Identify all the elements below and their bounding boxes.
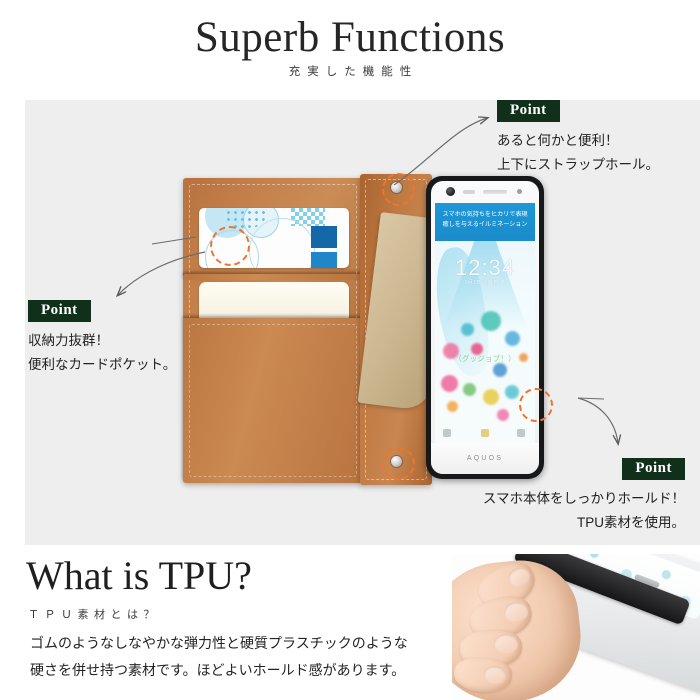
smartphone-in-case: スマホの気持ちをヒカリで表現 癒しを与えるイルミネーション 12:34 3月7日…: [426, 176, 544, 479]
point-badge: Point: [497, 100, 560, 122]
tpu-body-text: ゴムのようなしなやかな弾力性と硬質プラスチックのような 硬さを併せ持つ素材です。…: [30, 630, 445, 685]
nav-lock-icon: [481, 429, 489, 437]
demo-fingernail: [494, 634, 519, 655]
screen-caption: （グッジョブ！）: [435, 353, 535, 364]
tpu-subtitle: ＴＰＵ素材とは？: [28, 606, 160, 622]
front-camera-icon: [446, 187, 455, 196]
card-dot-pattern: [225, 208, 265, 228]
banner-line-1: スマホの気持ちをヒカリで表現: [435, 210, 535, 220]
screen-banner: スマホの気持ちをヒカリで表現 癒しを与えるイルミネーション: [435, 203, 535, 241]
point-badge: Point: [28, 300, 91, 322]
card-blue-rect: [311, 226, 337, 248]
banner-line-2: 癒しを与えるイルミネーション: [435, 220, 535, 230]
card-pocket-lower: [183, 318, 363, 483]
bokeh-circle: [461, 323, 474, 336]
nav-camera-icon: [517, 429, 525, 437]
callout-card-pocket: Point 収納力抜群！ 便利なカードポケット。: [28, 300, 176, 377]
highlight-circle-strap-bottom: [382, 447, 415, 480]
bokeh-circle: [505, 331, 520, 346]
point-badge: Point: [622, 458, 685, 480]
bokeh-circle: [483, 389, 499, 405]
stitch-line: [189, 324, 357, 477]
phone-top-bezel: [431, 181, 539, 203]
card-pocket-upper: [183, 274, 363, 280]
bokeh-circle: [463, 383, 476, 396]
callout-text: あると何かと便利！ 上下にストラップホール。: [497, 129, 659, 176]
highlight-circle-card-pocket: [210, 226, 250, 266]
header: Superb Functions 充実した機能性: [0, 0, 700, 100]
callout-strap-hole: Point あると何かと便利！ 上下にストラップホール。: [497, 100, 659, 177]
callout-text: スマホ本体をしっかりホールド！ TPU素材を使用。: [440, 487, 685, 534]
bokeh-circle: [493, 363, 507, 377]
highlight-circle-tpu-edge: [519, 388, 553, 422]
lockscreen-date: 3月7日 火曜日 曇: [435, 279, 535, 286]
callout-tpu-hold: Point スマホ本体をしっかりホールド！ TPU素材を使用。: [440, 458, 685, 535]
earpiece-speaker-icon: [483, 190, 507, 194]
infographic-page: Superb Functions 充実した機能性: [0, 0, 700, 700]
bokeh-circle: [497, 409, 509, 421]
product-photo-wallet-case: スマホの気持ちをヒカリで表現 癒しを与えるイルミネーション 12:34 3月7日…: [155, 168, 585, 493]
tpu-demo-photo: [452, 554, 700, 700]
proximity-sensor-icon: [517, 189, 522, 194]
tpu-title: What is TPU?: [26, 556, 252, 596]
phone-body: スマホの気持ちをヒカリで表現 癒しを与えるイルミネーション 12:34 3月7日…: [431, 181, 539, 474]
card-blue-rect: [311, 252, 337, 268]
page-subtitle: 充実した機能性: [0, 63, 700, 79]
nav-phone-icon: [443, 429, 451, 437]
bokeh-circle: [447, 401, 458, 412]
page-title: Superb Functions: [0, 16, 700, 59]
leather-left-wing: [183, 178, 363, 483]
callout-text: 収納力抜群！ 便利なカードポケット。: [28, 329, 176, 376]
lockscreen-clock: 12:34: [435, 255, 535, 281]
highlight-circle-strap-top: [382, 173, 415, 206]
bokeh-circle: [481, 311, 501, 331]
bokeh-circle: [505, 385, 519, 399]
sensor-slot-icon: [463, 190, 475, 194]
bokeh-circle: [441, 375, 458, 392]
screen-nav-row: [435, 427, 535, 439]
tpu-section: What is TPU? ＴＰＵ素材とは？ ゴムのようなしなやかな弾力性と硬質プ…: [0, 548, 700, 700]
